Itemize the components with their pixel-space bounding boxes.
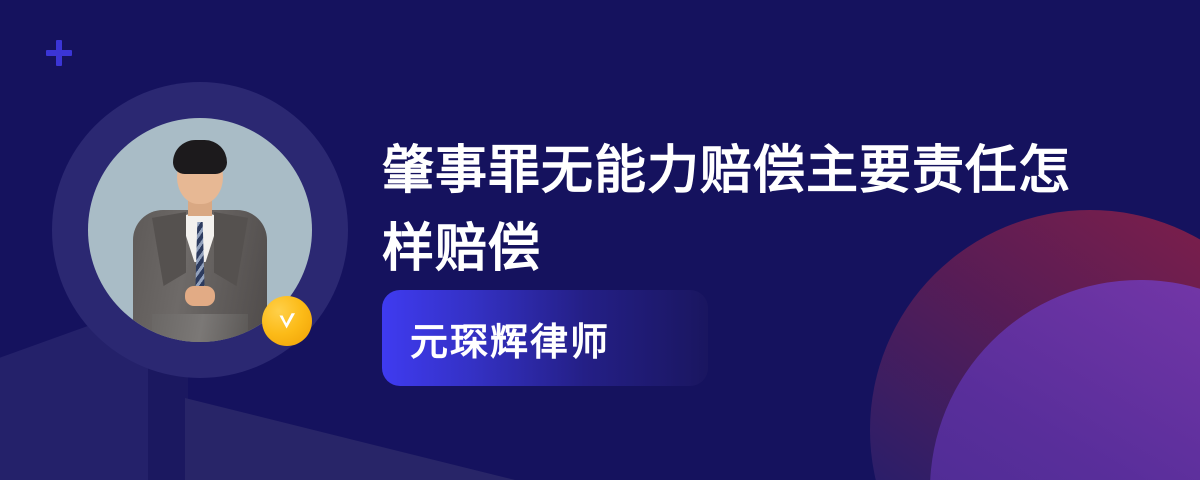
background-polygon-triangle <box>185 398 515 480</box>
avatar-hair <box>173 140 227 174</box>
avatar-trousers <box>152 314 248 342</box>
lawyer-name-button[interactable]: 元琛辉律师 <box>382 290 708 386</box>
lawyer-name-label: 元琛辉律师 <box>410 311 610 366</box>
page-title: 肇事罪无能力赔偿主要责任怎样赔偿 <box>382 132 1082 288</box>
verified-check-icon <box>262 296 312 346</box>
plus-icon <box>44 38 74 68</box>
avatar-hands <box>185 286 215 306</box>
lawyer-promo-banner: 肇事罪无能力赔偿主要责任怎样赔偿 元琛辉律师 <box>0 0 1200 480</box>
